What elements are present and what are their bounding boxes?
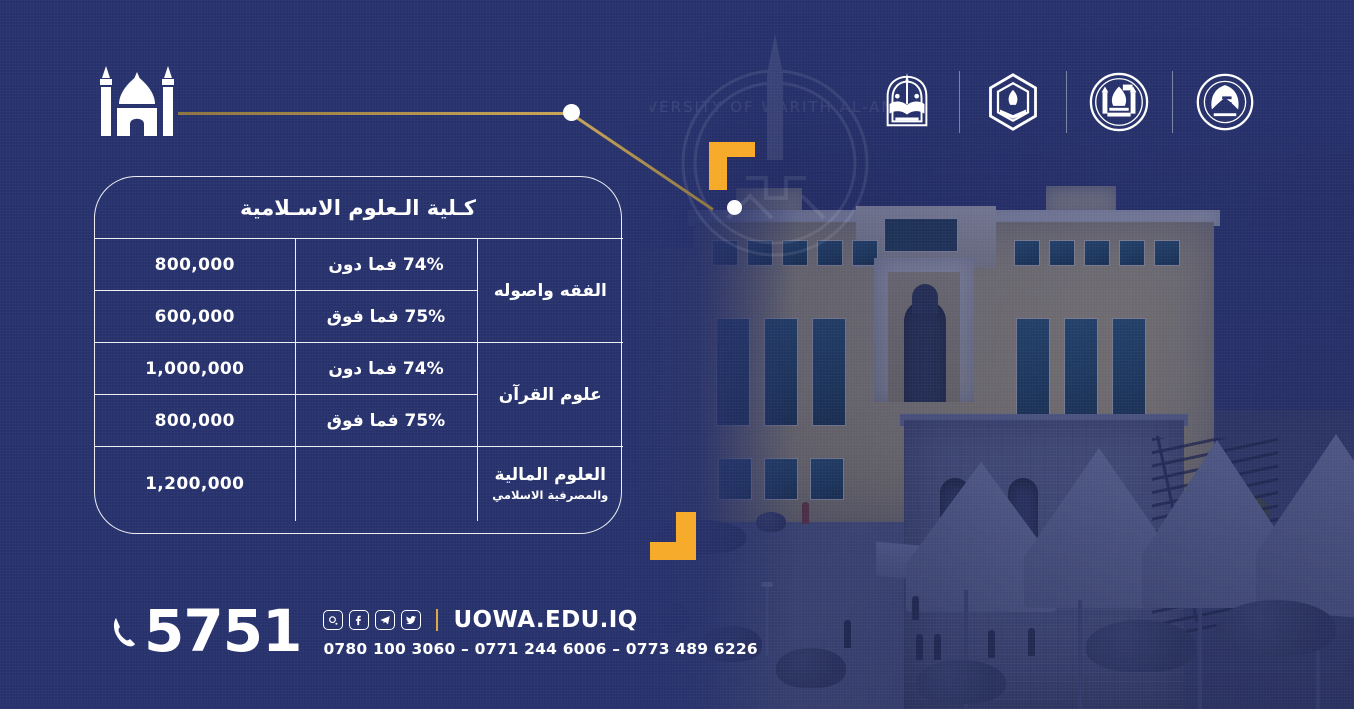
connector-dot-top [563, 104, 580, 121]
connector-line-horizontal [178, 112, 568, 115]
dept-cell: علوم القرآن [477, 343, 623, 447]
logo-divider [1172, 71, 1173, 133]
footer-divider [436, 609, 438, 631]
dept-cell: العلوم المالية والمصرفية الاسلامي [477, 447, 623, 521]
logo-divider [1066, 71, 1067, 133]
facebook-icon[interactable] [349, 610, 369, 630]
dept-name: العلوم المالية [495, 465, 606, 485]
twitter-icon[interactable] [401, 610, 421, 630]
logo-ministry-higher-education [1185, 60, 1266, 144]
table-row: علوم القرآن 74% فما دون 1,000,000 [95, 343, 623, 395]
footer-contact: 5751 [112, 596, 758, 668]
logo-hexagon-book-pen [972, 60, 1053, 144]
amount-cell: 600,000 [95, 291, 295, 343]
logo-warith-al-anbiya-university [866, 60, 947, 144]
mosque-icon [96, 62, 178, 136]
phone-numbers: 0780 100 3060 – 0771 244 6006 – 0773 489… [323, 640, 757, 658]
hotline-number: 5751 [144, 604, 301, 660]
footer-right: UOWA.EDU.IQ 0780 100 3060 – 0771 244 600… [323, 607, 757, 658]
watermark-text: UNIVERSITY OF WARITH AL-ANBIYA [650, 98, 900, 116]
footer-social-row: UOWA.EDU.IQ [323, 607, 757, 633]
table-row: الفقه واصوله 74% فما دون 800,000 [95, 239, 623, 291]
telegram-icon[interactable] [375, 610, 395, 630]
logo-al-ataba-al-abbasiya [1079, 60, 1160, 144]
connector-dot-bottom [727, 200, 742, 215]
amount-cell: 1,200,000 [95, 447, 295, 521]
poster-canvas: UNIVERSITY OF WARITH AL-ANBIYA [0, 0, 1354, 709]
amount-cell: 800,000 [95, 239, 295, 291]
phone-icon [112, 615, 138, 649]
table-row: العلوم المالية والمصرفية الاسلامي 1,200,… [95, 447, 623, 521]
amount-cell: 1,000,000 [95, 343, 295, 395]
amount-cell: 800,000 [95, 395, 295, 447]
instagram-icon[interactable] [323, 610, 343, 630]
orange-corner-bracket-bottom [650, 512, 696, 560]
pct-cell: 74% فما دون [295, 239, 477, 291]
dept-subname: والمصرفية الاسلامي [478, 488, 624, 502]
partner-logos [866, 60, 1266, 144]
university-watermark-crest: UNIVERSITY OF WARITH AL-ANBIYA [650, 28, 900, 278]
pct-cell: 75% فما فوق [295, 395, 477, 447]
college-title: كـلية الـعلوم الاسـلامية [95, 177, 621, 238]
logo-divider [959, 71, 960, 133]
orange-corner-bracket-top [709, 142, 755, 190]
pct-cell: 75% فما فوق [295, 291, 477, 343]
pct-cell: 74% فما دون [295, 343, 477, 395]
dept-cell: الفقه واصوله [477, 239, 623, 343]
fees-card: كـلية الـعلوم الاسـلامية الفقه واصوله 74… [94, 176, 622, 534]
fees-table: الفقه واصوله 74% فما دون 800,000 75% فما… [95, 238, 623, 521]
website-url[interactable]: UOWA.EDU.IQ [453, 607, 637, 633]
pct-cell [295, 447, 477, 521]
